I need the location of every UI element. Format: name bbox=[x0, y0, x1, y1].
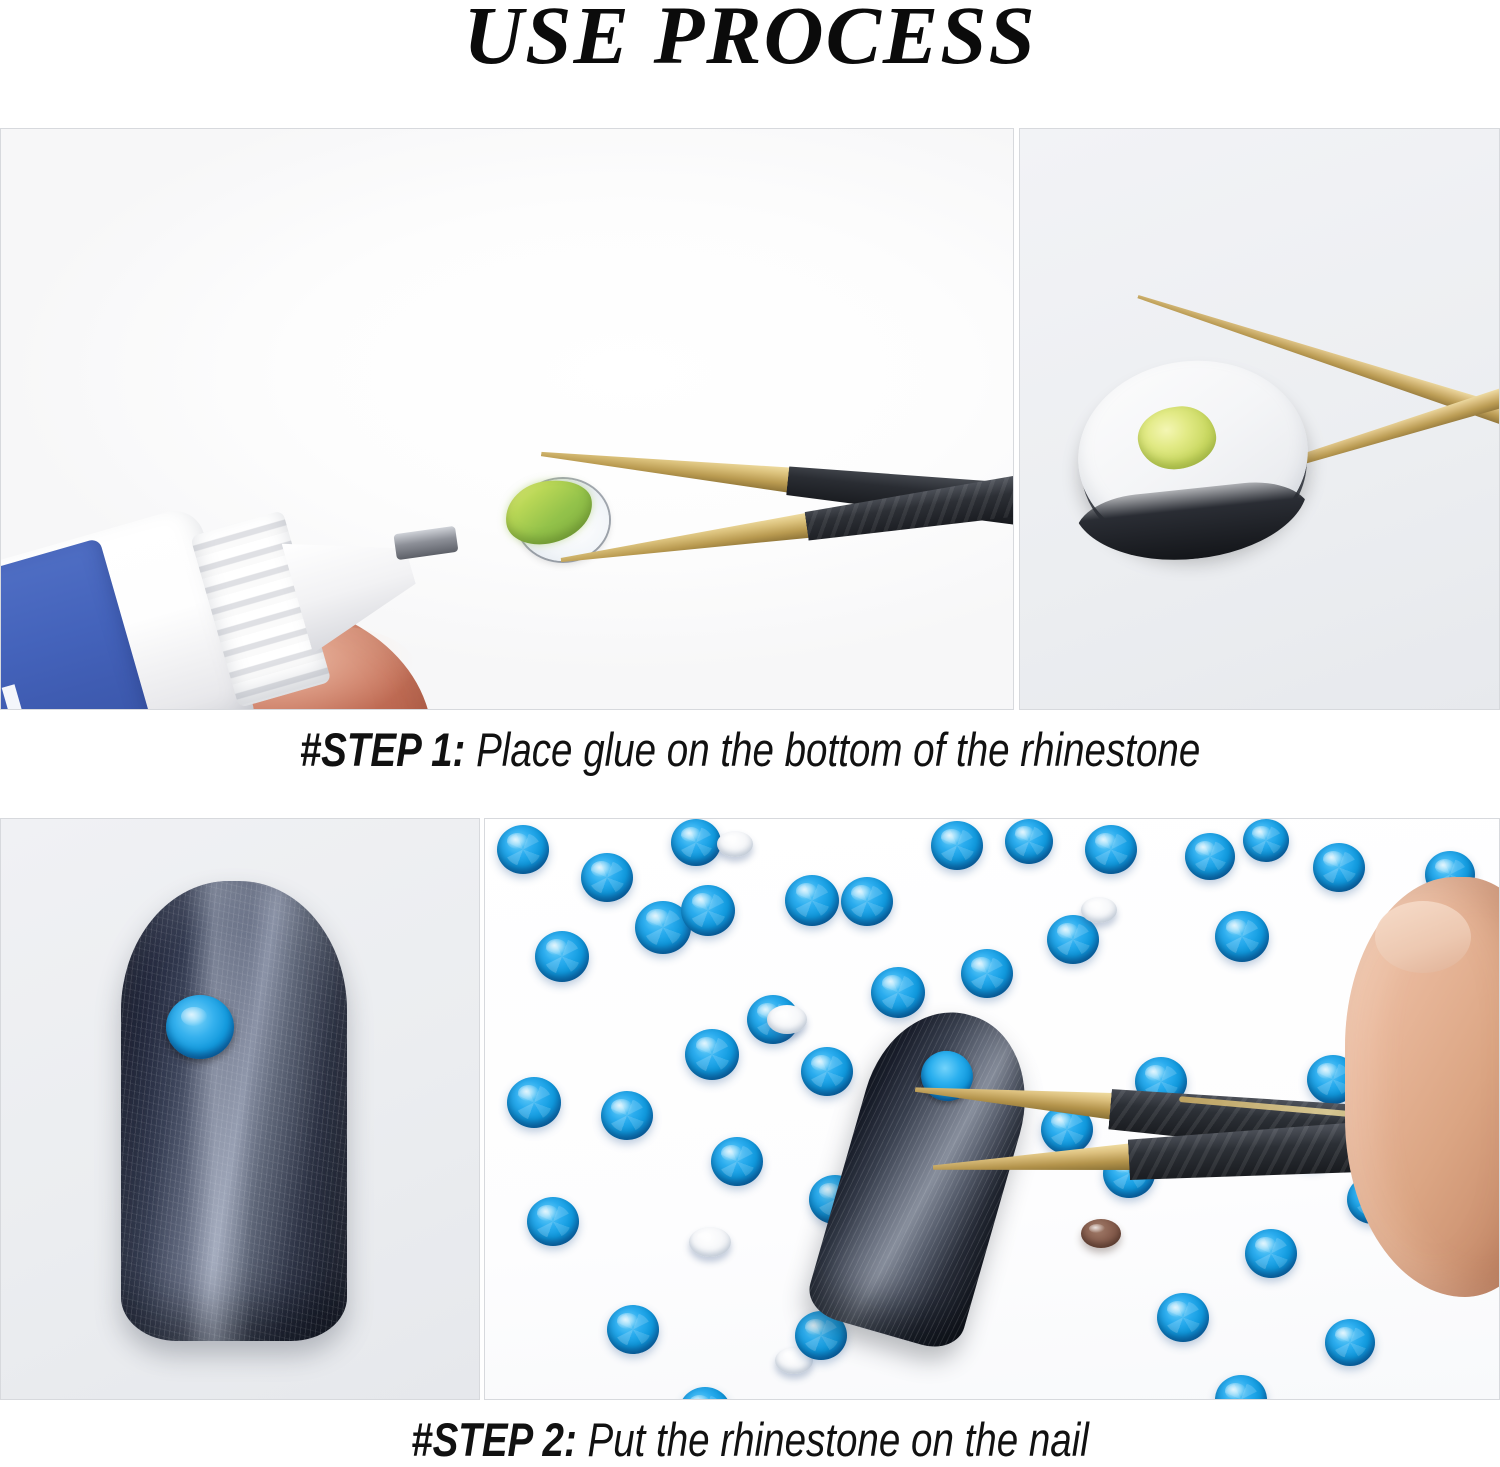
step-1-label: #STEP 1: bbox=[300, 723, 466, 776]
fingernail bbox=[1375, 901, 1471, 973]
rhinestone-blue bbox=[1005, 819, 1053, 864]
rhinestone-blue bbox=[685, 1029, 739, 1080]
rhinestone-flat-back bbox=[767, 1005, 807, 1034]
step-2-text: Put the rhinestone on the nail bbox=[577, 1413, 1089, 1466]
tweezer-gold-tip bbox=[932, 1142, 1143, 1181]
tweezer-gold-tip bbox=[914, 1075, 1126, 1121]
step-1-image-row: G Rh bbox=[0, 128, 1500, 710]
rhinestone-blue bbox=[535, 931, 589, 982]
rhinestone-flat-back bbox=[717, 831, 753, 857]
rhinestone-blue bbox=[607, 1305, 659, 1354]
press-on-nail bbox=[121, 881, 347, 1341]
rhinestone-blue bbox=[1047, 915, 1099, 964]
step-2-caption: #STEP 2: Put the rhinestone on the nail bbox=[135, 1412, 1365, 1467]
rhinestone-blue bbox=[931, 821, 983, 870]
rhinestone-blue bbox=[1325, 1319, 1375, 1366]
step-1-caption: #STEP 1: Place glue on the bottom of the… bbox=[135, 722, 1365, 777]
rhinestone-blue bbox=[841, 877, 893, 926]
rhinestone-blue bbox=[497, 825, 549, 874]
rhinestone-blue bbox=[801, 1047, 853, 1096]
rhinestone-blue bbox=[507, 1077, 561, 1128]
rhinestone-blue bbox=[1185, 833, 1235, 880]
rhinestone-blue bbox=[1245, 1229, 1297, 1278]
rhinestone-blue bbox=[1157, 1293, 1209, 1342]
step-1-text: Place glue on the bottom of the rhinesto… bbox=[465, 723, 1200, 776]
rhinestone-blue bbox=[1313, 843, 1365, 892]
rhinestone-blue bbox=[1085, 825, 1137, 874]
rhinestone-blue bbox=[1243, 819, 1289, 862]
step-2-image-row bbox=[0, 818, 1500, 1400]
panel-finished-nail bbox=[0, 818, 480, 1400]
rhinestone-blue bbox=[601, 1091, 653, 1140]
rhinestone-blue bbox=[961, 949, 1013, 998]
rhinestone-back-brown bbox=[1081, 1219, 1121, 1248]
panel-glued-rhinestone-closeup bbox=[1019, 128, 1500, 710]
page-title: USE PROCESS bbox=[0, 0, 1500, 77]
step-2-label: #STEP 2: bbox=[411, 1413, 577, 1466]
rhinestone-blue-on-nail bbox=[166, 995, 234, 1059]
rhinestone-blue bbox=[527, 1197, 579, 1246]
bottle-label: G Rh bbox=[0, 538, 161, 710]
panel-glue-application: G Rh bbox=[0, 128, 1014, 710]
rhinestone-flat-back bbox=[1081, 897, 1117, 923]
rhinestone-flat-back bbox=[689, 1227, 731, 1257]
rhinestone-blue bbox=[1215, 911, 1269, 962]
rhinestone-blue bbox=[785, 875, 839, 926]
bottle-label-text-line-2: Rh bbox=[0, 670, 41, 710]
rhinestone-blue bbox=[671, 819, 721, 866]
rhinestone-blue bbox=[681, 885, 735, 936]
rhinestone-blue bbox=[711, 1137, 763, 1186]
rhinestone-blue bbox=[581, 853, 633, 902]
panel-rhinestone-tray bbox=[484, 818, 1500, 1400]
